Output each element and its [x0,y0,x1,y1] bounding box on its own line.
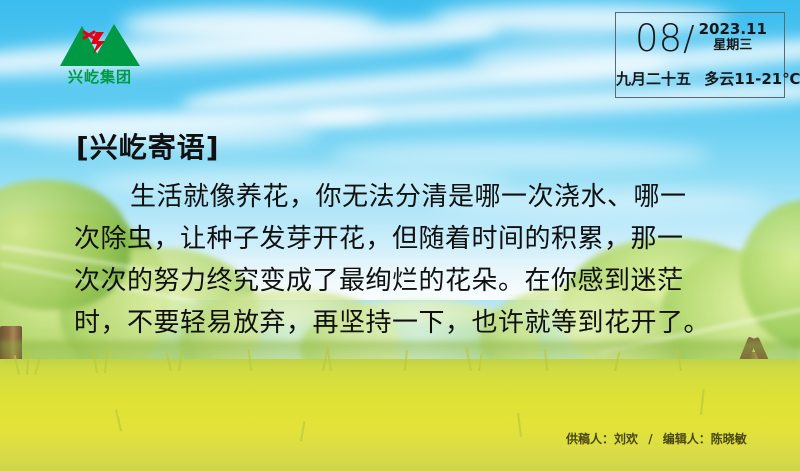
tree-trunk [0,326,22,406]
daily-quote-poster: 兴屹集团 08 / 2023.11 星期三 九月二十五 多云11-21℃ [兴屹… [0,0,800,471]
cloud [120,8,380,42]
twin-mountain-lightning-icon [60,24,140,68]
date-weather-box: 08 / 2023.11 星期三 九月二十五 多云11-21℃ [615,12,785,98]
grass-tuft [676,348,682,371]
grass-tuft [517,413,522,437]
weather-info: 多云11-21℃ [704,70,800,88]
date-secondary-row: 九月二十五 多云11-21℃ [616,68,786,89]
grass-tuft [465,347,472,371]
quote-line: 生活就像养花，你无法分清是哪一次浇水、哪一 [74,176,754,218]
date-year-month: 2023.11 [699,21,767,38]
grass-tuft [92,351,98,373]
logo-company-name: 兴屹集团 [46,66,154,87]
grass-tuft [404,350,408,371]
grass-tuft [300,421,305,441]
meadow-edge [0,341,800,367]
date-year-month-group: 2023.11 星期三 [699,17,767,54]
quote-line: 时，不要轻易放弃，再坚持一下，也许就等到花开了。 [74,302,754,344]
grass-tuft [700,389,705,415]
grass-tuft [614,351,620,371]
grass-tuft [104,347,109,373]
grass-tuft [26,351,30,375]
quote-line: 次次的努力终究变成了最绚烂的花朵。在你感到迷茫 [74,260,754,302]
date-primary-row: 08 / 2023.11 星期三 [616,17,786,65]
grass-tuft [478,353,483,371]
contributor-label: 供稿人：刘欢 [566,432,638,446]
grass-tuft [34,357,41,375]
date-slash: / [683,17,694,61]
page-title: [兴屹寄语] [76,126,220,166]
credits-separator: / [648,432,652,446]
grass-tuft [544,349,548,371]
grass-tuft [327,346,332,371]
cloud [330,140,710,170]
grass-tuft [248,349,252,371]
editor-label: 编辑人：陈晓敏 [663,432,747,446]
lunar-date: 九月二十五 [616,70,691,88]
grass-tuft [178,347,183,371]
grass-tuft [322,351,328,371]
date-day-number: 08 [635,17,682,61]
quote-body: 生活就像养花，你无法分清是哪一次浇水、哪一 次除虫，让种子发芽开花，但随着时间的… [74,176,754,344]
grass-tuft [14,355,20,375]
grass-tuft [115,409,122,431]
date-weekday: 星期三 [699,38,767,54]
meadow-field [0,359,800,471]
grass-tuft [165,351,172,371]
xingyi-group-logo[interactable]: 兴屹集团 [46,24,154,88]
quote-line: 次除虫，让种子发芽开花，但随着时间的积累，那一 [74,218,754,260]
credits: 供稿人：刘欢 / 编辑人：陈晓敏 [566,430,747,447]
tree-trunk [742,352,766,414]
